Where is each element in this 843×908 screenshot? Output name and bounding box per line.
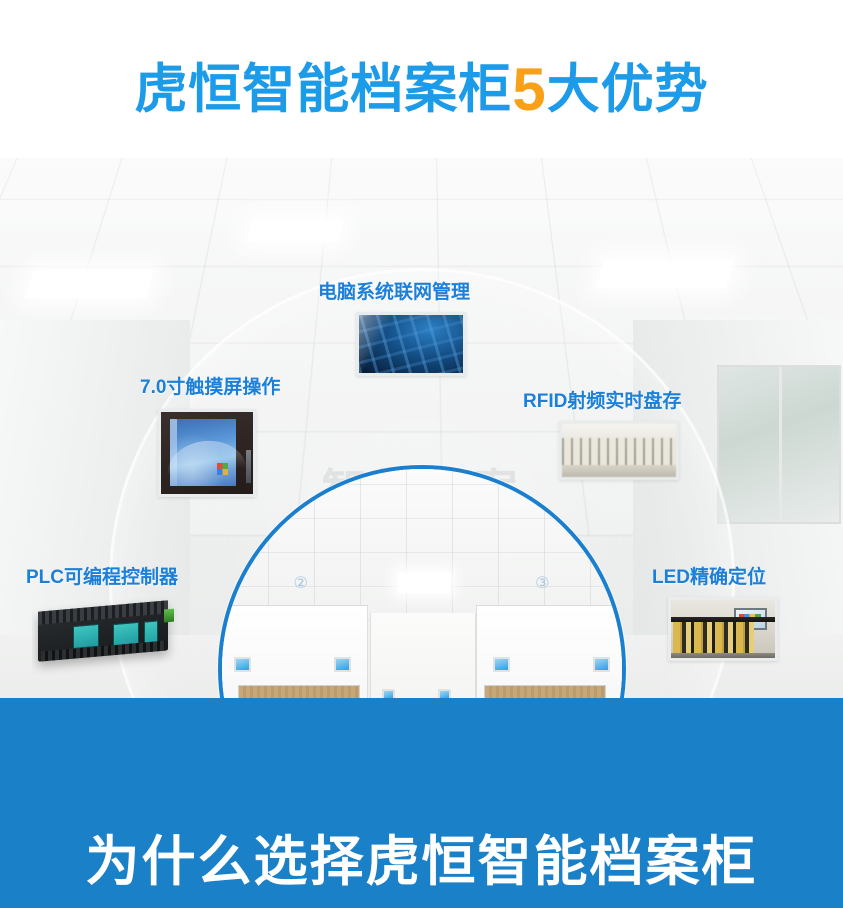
feature-label: 7.0寸触摸屏操作 — [140, 378, 280, 397]
title-number: 5 — [512, 56, 546, 123]
title-text-primary: 虎恒智能档案柜 — [134, 60, 512, 119]
feature-label: PLC可编程控制器 — [26, 568, 180, 587]
feature-label: LED精确定位 — [652, 568, 778, 587]
cabinet-screen — [334, 657, 351, 672]
plc-green-connector — [164, 609, 174, 623]
feature-computer-network[interactable]: 电脑系统联网管理 — [318, 283, 470, 376]
cabinet-screen — [493, 657, 510, 672]
feature-label: 电脑系统联网管理 — [318, 283, 470, 302]
feature-label: RFID射频实时盘存 — [523, 392, 681, 411]
window — [717, 365, 841, 524]
taskbar — [170, 419, 176, 486]
feature-plc[interactable]: PLC可编程控制器 — [26, 568, 180, 675]
keyboard-photo-thumbnail[interactable] — [356, 312, 466, 376]
promo-page: 智能档案 ② ③ — [0, 0, 843, 908]
led-folders-thumbnail[interactable] — [668, 597, 778, 661]
page-header: 虎恒智能档案柜5大优势 — [0, 0, 843, 158]
feature-touchscreen[interactable]: 7.0寸触摸屏操作 — [140, 378, 280, 497]
plc-module-thumbnail[interactable] — [32, 595, 180, 675]
side-button-strip — [246, 450, 252, 483]
title-text-secondary: 大优势 — [547, 60, 709, 119]
touchscreen-display — [170, 419, 236, 486]
cabinet-screen — [593, 657, 610, 672]
room-ceiling — [222, 469, 622, 621]
bottom-banner: 为什么选择虎恒智能档案柜 — [0, 698, 843, 908]
wallpaper-hill — [165, 437, 247, 476]
cabinet-screen — [234, 657, 251, 672]
cabinet-number: ② — [294, 573, 308, 593]
room-ceiling-light — [398, 573, 450, 593]
shelf-base — [671, 653, 775, 658]
feature-led[interactable]: LED精确定位 — [652, 568, 778, 661]
plc-display — [73, 624, 99, 649]
shelf-base — [562, 465, 676, 477]
ceiling-light — [26, 270, 154, 298]
file-folders — [673, 622, 754, 654]
rfid-shelf-thumbnail[interactable] — [559, 421, 679, 480]
page-title: 虎恒智能档案柜5大优势 — [0, 60, 843, 120]
ceiling-light — [247, 220, 343, 242]
os-logo-icon — [217, 463, 229, 475]
ceiling-light — [596, 260, 734, 288]
banner-headline: 为什么选择虎恒智能档案柜 — [0, 833, 843, 892]
shelf-top — [562, 424, 676, 438]
cabinet-number: ③ — [535, 573, 549, 593]
feature-rfid[interactable]: RFID射频实时盘存 — [523, 392, 681, 480]
touch-panel-pc-thumbnail[interactable] — [158, 409, 256, 497]
